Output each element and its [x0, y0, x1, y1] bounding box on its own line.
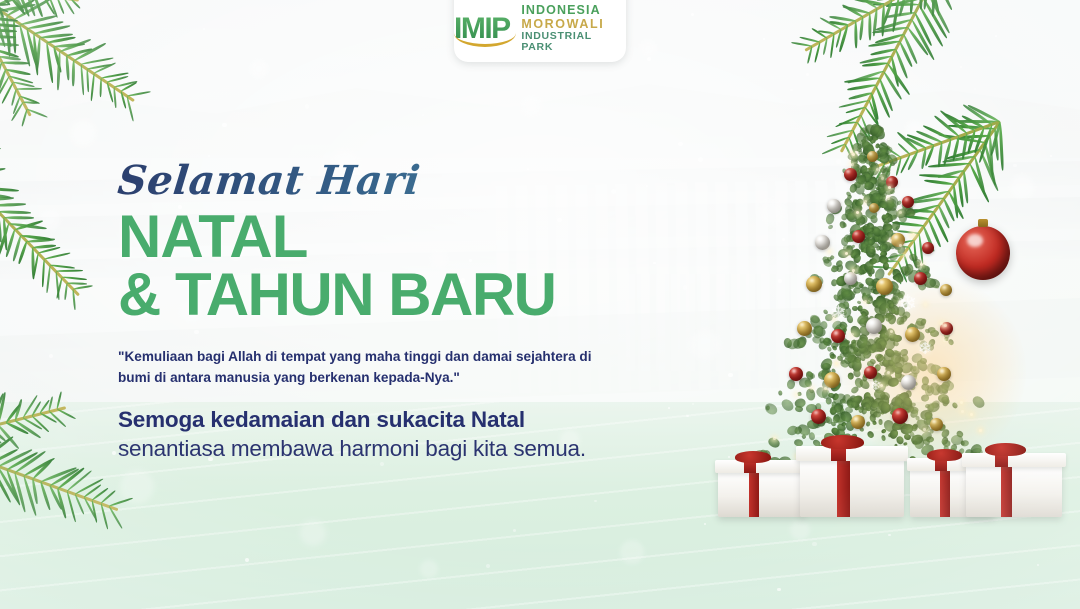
tree-light [851, 163, 854, 166]
tree-light [961, 410, 964, 413]
gold-ornament-icon [876, 278, 893, 295]
bokeh-dot [790, 520, 810, 540]
pine-needle [90, 73, 95, 101]
gold-ornament-icon [937, 367, 951, 381]
tree-light [851, 333, 854, 336]
snow-particle [305, 104, 309, 108]
tree-light [889, 239, 892, 242]
snow-particle [698, 157, 702, 161]
red-ornament-icon [922, 242, 934, 254]
pine-needle [36, 37, 42, 70]
gift-bow [735, 451, 771, 463]
tree-sprig [826, 346, 831, 352]
gift-ribbon-vertical [940, 469, 950, 517]
red-ornament-icon [914, 272, 927, 285]
snowflake-icon: ❄ [898, 292, 917, 315]
gold-ornament-icon [824, 372, 840, 388]
ornament-cap [978, 219, 988, 227]
gift-box [966, 451, 1062, 517]
closing-message-line-2: senantiasa membawa harmoni bagi kita sem… [118, 434, 678, 463]
headline-natal: NATAL [118, 208, 678, 266]
bokeh-dot [420, 560, 438, 578]
tree-light [888, 186, 891, 189]
pine-needle [4, 216, 34, 219]
christmas-greeting-card: IMIP INDONESIA MOROWALI INDUSTRIAL PARK … [0, 0, 1080, 609]
tree-sprig [890, 162, 895, 166]
tree-light [923, 428, 926, 431]
gold-ornament-icon [806, 276, 822, 292]
snow-particle [594, 500, 597, 503]
tree-sprig [822, 363, 831, 370]
tree-light [810, 387, 813, 390]
gift-box [718, 458, 804, 517]
tree-sprig [882, 262, 889, 270]
closing-message: Semoga kedamaian dan sukacita Natal sena… [118, 405, 678, 464]
gift-bow [927, 449, 962, 461]
snow-particle [806, 73, 808, 75]
gold-ornament-icon [869, 203, 879, 213]
gift-bow [821, 435, 865, 449]
pine-needle [2, 61, 29, 65]
tree-light [940, 322, 943, 325]
greeting-text-block: Selamat Hari NATAL & TAHUN BARU "Kemulia… [118, 160, 678, 463]
greeting-script-line: Selamat Hari [116, 160, 680, 202]
imip-logo-plaque: IMIP INDONESIA MOROWALI INDUSTRIAL PARK [454, 0, 626, 62]
red-ornament-icon [789, 367, 803, 381]
gift-ribbon-vertical [837, 459, 849, 517]
brand-line-industrial-park: INDUSTRIAL PARK [521, 31, 626, 53]
gift-ribbon-vertical [749, 471, 759, 517]
pine-needle [56, 269, 83, 272]
tree-sprig [805, 388, 816, 401]
tree-light [856, 211, 859, 214]
snow-particle [422, 114, 424, 116]
snow-particle [683, 285, 687, 289]
red-ornament-icon [956, 226, 1010, 280]
tree-sprig [846, 194, 853, 201]
pine-needle [45, 265, 51, 293]
gift-bow [985, 443, 1025, 456]
gift-box-body [718, 471, 804, 517]
bokeh-dot [690, 330, 720, 360]
tree-light [979, 429, 982, 432]
pine-needle [0, 186, 19, 192]
pine-needle [73, 285, 93, 290]
bokeh-dot [300, 520, 326, 546]
tree-light [845, 252, 848, 255]
snow-particle [763, 38, 765, 40]
snow-particle [647, 57, 651, 61]
snow-particle [812, 542, 816, 546]
tree-sprig [831, 278, 838, 286]
snow-particle [704, 523, 706, 525]
tree-sprig [827, 224, 833, 230]
pine-needle [41, 259, 45, 287]
bokeh-dot [250, 60, 268, 78]
pine-needle [127, 91, 151, 97]
gold-ornament-icon [851, 415, 865, 429]
gift-boxes [714, 439, 1044, 517]
snow-particle [222, 123, 227, 128]
snow-particle [678, 142, 683, 147]
pine-needle [72, 60, 75, 86]
pine-needle [99, 78, 102, 98]
tree-light [960, 401, 963, 404]
imip-logomark: IMIP [454, 12, 515, 46]
tree-sprig [794, 406, 802, 413]
pine-needle [0, 197, 14, 201]
closing-message-line-1: Semoga kedamaian dan sukacita Natal [118, 405, 678, 434]
tree-light [864, 200, 867, 203]
red-ornament-icon [844, 168, 857, 181]
tree-light [920, 263, 923, 266]
red-ornament-icon [892, 408, 908, 424]
tree-light [887, 371, 890, 374]
bokeh-dot [620, 540, 644, 564]
gift-box-body [800, 459, 904, 517]
white-ornament-icon [866, 318, 882, 334]
red-ornament-icon [902, 196, 914, 208]
gift-box-body [966, 465, 1062, 517]
tree-light [899, 244, 902, 247]
tree-light [828, 250, 831, 253]
pine-needle [854, 21, 857, 48]
gold-ornament-icon [867, 151, 878, 162]
pine-needle [21, 109, 28, 127]
pine-needle [16, 88, 42, 91]
pine-needle [79, 64, 84, 95]
brand-line-morowali: MOROWALI [521, 18, 626, 31]
snowflake-icon: ❄ [918, 340, 932, 357]
red-ornament-icon [811, 409, 826, 424]
gift-box [800, 444, 904, 517]
gold-star-topper-icon [846, 78, 898, 128]
tree-light [832, 317, 835, 320]
tree-sprig [778, 390, 783, 395]
white-ornament-icon [827, 199, 841, 213]
tree-light [910, 234, 913, 237]
red-ornament-icon [831, 329, 845, 343]
pine-needle [919, 0, 923, 10]
white-ornament-icon [844, 272, 857, 285]
gold-ornament-icon [940, 284, 952, 296]
pine-needle [27, 238, 55, 243]
tree-sprig [764, 401, 780, 416]
pine-needle [0, 203, 26, 207]
tree-light [835, 362, 838, 365]
snowflake-icon: ❄ [830, 304, 847, 324]
snow-particle [691, 13, 694, 16]
white-ornament-icon [901, 375, 916, 390]
pine-needle [0, 35, 17, 39]
pine-branch-bottom-left [0, 440, 190, 609]
bokeh-dot [520, 95, 542, 117]
pine-needle [55, 0, 64, 14]
gold-ornament-icon [930, 418, 943, 431]
bible-quote: "Kemuliaan bagi Allah di tempat yang mah… [118, 346, 623, 388]
red-ornament-icon [852, 230, 865, 243]
bokeh-dot [640, 40, 656, 56]
pine-needle [44, 252, 71, 260]
white-ornament-icon [815, 235, 830, 250]
headline-tahun-baru: & TAHUN BARU [118, 266, 678, 324]
tree-sprig [779, 397, 795, 413]
tree-light [903, 254, 906, 257]
gift-ribbon-vertical [1001, 465, 1013, 517]
gold-ornament-icon [797, 321, 812, 336]
pine-needle [0, 167, 6, 177]
pine-needle [0, 210, 31, 214]
brand-line-indonesia: INDONESIA [521, 4, 626, 17]
tree-light [943, 339, 946, 342]
